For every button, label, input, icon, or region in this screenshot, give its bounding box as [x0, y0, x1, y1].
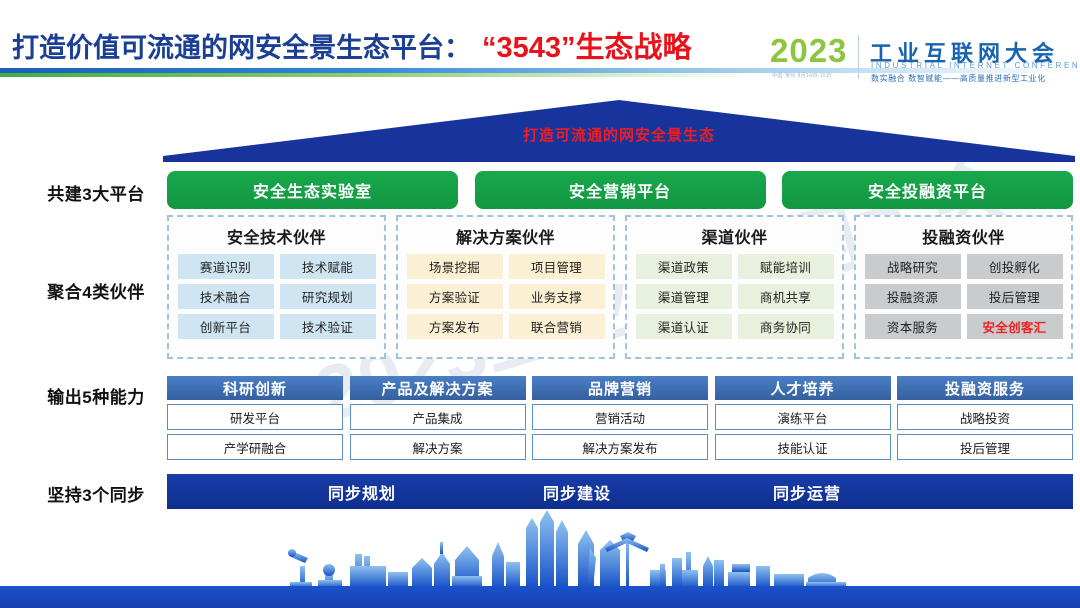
capability-item[interactable]: 投后管理: [897, 434, 1073, 460]
capability-header: 品牌营销: [532, 376, 708, 400]
partner-group-3: 投融资伙伴战略研究创投孵化投融资源投后管理资本服务安全创客汇: [854, 215, 1073, 359]
partner-cell[interactable]: 项目管理: [509, 254, 605, 279]
skyline-silhouette: [288, 510, 846, 588]
partner-cell[interactable]: 渠道管理: [636, 284, 732, 309]
partner-group-2: 渠道伙伴渠道政策赋能培训渠道管理商机共享渠道认证商务协同: [625, 215, 844, 359]
partner-cell[interactable]: 技术验证: [280, 314, 376, 339]
partner-cell[interactable]: 赛道识别: [178, 254, 274, 279]
capability-item[interactable]: 解决方案: [350, 434, 526, 460]
partner-cell[interactable]: 资本服务: [865, 314, 961, 339]
logo-slogan: 数实融合 数智赋能——高质量推进新型工业化: [871, 73, 1046, 84]
side-label-platforms: 共建3大平台: [26, 180, 166, 205]
capability-column-4: 投融资服务战略投资投后管理: [897, 376, 1073, 469]
partner-cell-grid: 赛道识别技术赋能技术融合研究规划创新平台技术验证: [169, 254, 384, 339]
capability-column-0: 科研创新研发平台产学研融合: [167, 376, 343, 469]
partner-cell[interactable]: 赋能培训: [738, 254, 834, 279]
capability-item[interactable]: 战略投资: [897, 404, 1073, 430]
sync-item-2: 同步运营: [727, 474, 887, 509]
capability-header: 科研创新: [167, 376, 343, 400]
capability-item[interactable]: 研发平台: [167, 404, 343, 430]
partner-row: 安全技术伙伴赛道识别技术赋能技术融合研究规划创新平台技术验证解决方案伙伴场景挖掘…: [167, 215, 1073, 359]
footer-skyline: [0, 508, 1080, 608]
strategy-title: “3543”生态战略: [482, 24, 692, 66]
capability-header: 产品及解决方案: [350, 376, 526, 400]
side-label-capabilities: 输出5种能力: [26, 383, 166, 408]
partner-group-title: 解决方案伙伴: [456, 224, 555, 248]
side-label-partners: 聚合4类伙伴: [26, 278, 166, 303]
platform-row: 安全生态实验室 安全营销平台 安全投融资平台: [167, 171, 1073, 209]
slide-canvas: 打造价值可流通的网安全景生态平台： “3543”生态战略 2023 中国·常州 …: [0, 0, 1080, 608]
partner-cell-grid: 渠道政策赋能培训渠道管理商机共享渠道认证商务协同: [627, 254, 842, 339]
capability-column-3: 人才培养演练平台技能认证: [715, 376, 891, 469]
logo-en-name: INDUSTRIAL INTERNET CONFERENCE: [871, 61, 1080, 70]
logo-year: 2023: [770, 34, 847, 68]
partner-group-title: 投融资伙伴: [922, 224, 1005, 248]
side-label-sync: 坚持3个同步: [26, 481, 166, 506]
partner-cell[interactable]: 投后管理: [967, 284, 1063, 309]
logo-divider: [858, 35, 859, 79]
capability-column-1: 产品及解决方案产品集成解决方案: [350, 376, 526, 469]
capability-item[interactable]: 营销活动: [532, 404, 708, 430]
capability-item[interactable]: 解决方案发布: [532, 434, 708, 460]
platform-item-0[interactable]: 安全生态实验室: [167, 171, 458, 209]
partner-cell[interactable]: 方案发布: [407, 314, 503, 339]
platform-item-1[interactable]: 安全营销平台: [475, 171, 766, 209]
partner-cell[interactable]: 投融资源: [865, 284, 961, 309]
partner-group-0: 安全技术伙伴赛道识别技术赋能技术融合研究规划创新平台技术验证: [167, 215, 386, 359]
platform-item-2[interactable]: 安全投融资平台: [782, 171, 1073, 209]
page-title: 打造价值可流通的网安全景生态平台：: [12, 26, 471, 65]
logo-year-subtitle: 中国·常州 8月14日-15日: [772, 72, 832, 79]
roof-shape: 打造可流通的网安全景生态: [163, 100, 1075, 162]
capability-item[interactable]: 产学研融合: [167, 434, 343, 460]
capability-header: 投融资服务: [897, 376, 1073, 400]
conference-logo: 2023 中国·常州 8月14日-15日 工业互联网大会 INDUSTRIAL …: [770, 34, 1070, 86]
partner-group-title: 安全技术伙伴: [227, 224, 326, 248]
capability-item[interactable]: 技能认证: [715, 434, 891, 460]
roof-label: 打造可流通的网安全景生态: [163, 124, 1075, 145]
partner-cell[interactable]: 创投孵化: [967, 254, 1063, 279]
sync-item-0: 同步规划: [282, 474, 442, 509]
capability-item[interactable]: 产品集成: [350, 404, 526, 430]
capability-column-2: 品牌营销营销活动解决方案发布: [532, 376, 708, 469]
capability-header: 人才培养: [715, 376, 891, 400]
partner-cell[interactable]: 渠道政策: [636, 254, 732, 279]
partner-cell[interactable]: 创新平台: [178, 314, 274, 339]
header-rule-green: [0, 73, 760, 77]
partner-cell[interactable]: 业务支撑: [509, 284, 605, 309]
partner-cell[interactable]: 战略研究: [865, 254, 961, 279]
partner-cell[interactable]: 联合营销: [509, 314, 605, 339]
capability-item[interactable]: 演练平台: [715, 404, 891, 430]
sync-item-1: 同步建设: [497, 474, 657, 509]
partner-cell[interactable]: 场景挖掘: [407, 254, 503, 279]
partner-cell[interactable]: 技术融合: [178, 284, 274, 309]
capability-row: 科研创新研发平台产学研融合产品及解决方案产品集成解决方案品牌营销营销活动解决方案…: [167, 376, 1073, 469]
partner-cell[interactable]: 商务协同: [738, 314, 834, 339]
footer-band: [0, 586, 1080, 608]
partner-group-title: 渠道伙伴: [701, 224, 767, 248]
partner-cell[interactable]: 渠道认证: [636, 314, 732, 339]
sync-bar: 同步规划 同步建设 同步运营: [167, 474, 1073, 509]
partner-cell-grid: 战略研究创投孵化投融资源投后管理资本服务安全创客汇: [856, 254, 1071, 339]
partner-cell-grid: 场景挖掘项目管理方案验证业务支撑方案发布联合营销: [398, 254, 613, 339]
partner-cell[interactable]: 研究规划: [280, 284, 376, 309]
partner-group-1: 解决方案伙伴场景挖掘项目管理方案验证业务支撑方案发布联合营销: [396, 215, 615, 359]
partner-cell[interactable]: 安全创客汇: [967, 314, 1063, 339]
partner-cell[interactable]: 方案验证: [407, 284, 503, 309]
partner-cell[interactable]: 技术赋能: [280, 254, 376, 279]
partner-cell[interactable]: 商机共享: [738, 284, 834, 309]
